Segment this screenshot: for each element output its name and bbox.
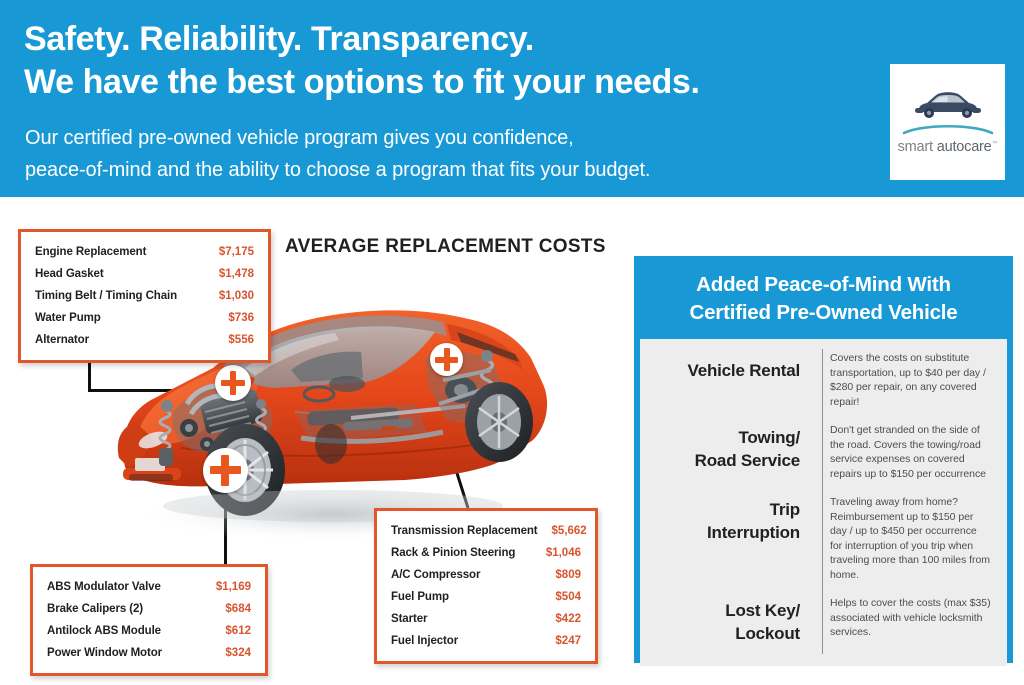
benefit-name: Lost Key/ Lockout — [650, 596, 816, 645]
cost-item-label: Head Gasket — [35, 264, 104, 284]
cost-item-value: $1,030 — [205, 286, 254, 306]
plus-badge-brakes[interactable] — [203, 448, 248, 493]
table-row: Rack & Pinion Steering $1,046 — [391, 542, 581, 564]
cost-item-label: Water Pump — [35, 308, 101, 328]
benefit-item-vehicle-rental: Vehicle Rental Covers the costs on subst… — [650, 351, 991, 409]
cost-item-value: $556 — [214, 330, 254, 350]
cost-item-value: $809 — [541, 565, 581, 585]
table-row: Power Window Motor $324 — [47, 642, 251, 664]
cost-item-label: Antilock ABS Module — [47, 621, 161, 641]
cost-item-label: Timing Belt / Timing Chain — [35, 286, 177, 306]
cost-item-label: Rack & Pinion Steering — [391, 543, 515, 563]
benefits-title-line-2: Certified Pre-Owned Vehicle — [640, 299, 1007, 327]
table-row: Timing Belt / Timing Chain $1,030 — [35, 285, 254, 307]
infographic-root: Safety. Reliability. Transparency. We ha… — [0, 0, 1024, 685]
benefit-item-trip-interruption: Trip Interruption Traveling away from ho… — [650, 495, 991, 582]
cost-item-value: $612 — [211, 621, 251, 641]
cost-item-label: Fuel Pump — [391, 587, 449, 607]
table-row: Brake Calipers (2) $684 — [47, 598, 251, 620]
plus-badge-transmission[interactable] — [430, 343, 463, 376]
benefit-description: Covers the costs on substitute transport… — [816, 351, 991, 409]
brakes-costs-table: ABS Modulator Valve $1,169 Brake Caliper… — [30, 564, 268, 676]
cost-item-label: Fuel Injector — [391, 631, 458, 651]
benefit-name-line-2: Interruption — [650, 521, 800, 544]
table-row: Antilock ABS Module $612 — [47, 620, 251, 642]
table-row: Transmission Replacement $5,662 — [391, 520, 581, 542]
plus-icon-vertical — [230, 371, 236, 395]
cost-item-value: $7,175 — [205, 242, 254, 262]
cost-item-value: $324 — [211, 643, 251, 663]
cost-item-label: Starter — [391, 609, 427, 629]
benefit-name: Towing/ Road Service — [650, 423, 816, 472]
benefits-list: Vehicle Rental Covers the costs on subst… — [640, 339, 1007, 666]
benefit-name-line-2: Lockout — [650, 622, 800, 645]
plus-icon-vertical — [444, 348, 450, 371]
cost-item-label: Brake Calipers (2) — [47, 599, 143, 619]
benefit-item-lost-key-lockout: Lost Key/ Lockout Helps to cover the cos… — [650, 596, 991, 645]
cost-item-value: $504 — [541, 587, 581, 607]
benefit-name-line-1: Lost Key/ — [650, 599, 800, 622]
cost-item-value: $1,169 — [202, 577, 251, 597]
table-row: A/C Compressor $809 — [391, 564, 581, 586]
benefit-name-line-1: Vehicle Rental — [650, 359, 800, 382]
benefit-description: Helps to cover the costs (max $35) assoc… — [816, 596, 991, 640]
table-row: ABS Modulator Valve $1,169 — [47, 576, 251, 598]
benefit-name-line-2: Road Service — [650, 449, 800, 472]
benefit-name-line-1: Towing/ — [650, 426, 800, 449]
table-row: Engine Replacement $7,175 — [35, 241, 254, 263]
cost-item-value: $5,662 — [538, 521, 587, 541]
cost-item-value: $1,478 — [205, 264, 254, 284]
benefits-divider — [822, 349, 823, 654]
benefit-description: Don't get stranded on the side of the ro… — [816, 423, 991, 481]
cost-item-value: $247 — [541, 631, 581, 651]
table-row: Alternator $556 — [35, 329, 254, 351]
benefits-panel: Added Peace-of-Mind With Certified Pre-O… — [634, 256, 1013, 663]
benefit-name: Trip Interruption — [650, 495, 816, 544]
engine-costs-table: Engine Replacement $7,175 Head Gasket $1… — [18, 229, 271, 363]
benefit-description: Traveling away from home? Reimbursement … — [816, 495, 991, 582]
cost-item-label: ABS Modulator Valve — [47, 577, 161, 597]
cost-item-label: Power Window Motor — [47, 643, 162, 663]
cost-item-label: A/C Compressor — [391, 565, 480, 585]
transmission-costs-table: Transmission Replacement $5,662 Rack & P… — [374, 508, 598, 664]
table-row: Starter $422 — [391, 608, 581, 630]
table-row: Fuel Injector $247 — [391, 630, 581, 652]
cost-item-label: Alternator — [35, 330, 89, 350]
cost-item-label: Transmission Replacement — [391, 521, 538, 541]
cost-item-value: $422 — [541, 609, 581, 629]
benefit-name-line-1: Trip — [650, 498, 800, 521]
plus-badge-engine[interactable] — [215, 365, 251, 401]
cost-item-label: Engine Replacement — [35, 242, 146, 262]
cost-item-value: $1,046 — [532, 543, 581, 563]
rear-wheel — [465, 382, 533, 462]
benefits-panel-title: Added Peace-of-Mind With Certified Pre-O… — [640, 262, 1007, 339]
table-row: Head Gasket $1,478 — [35, 263, 254, 285]
benefit-name: Vehicle Rental — [650, 351, 816, 382]
table-row: Fuel Pump $504 — [391, 586, 581, 608]
cost-item-value: $684 — [211, 599, 251, 619]
benefits-title-line-1: Added Peace-of-Mind With — [640, 271, 1007, 299]
benefit-item-towing-road-service: Towing/ Road Service Don't get stranded … — [650, 423, 991, 481]
table-row: Water Pump $736 — [35, 307, 254, 329]
plus-icon-vertical — [221, 455, 229, 486]
cost-item-value: $736 — [214, 308, 254, 328]
